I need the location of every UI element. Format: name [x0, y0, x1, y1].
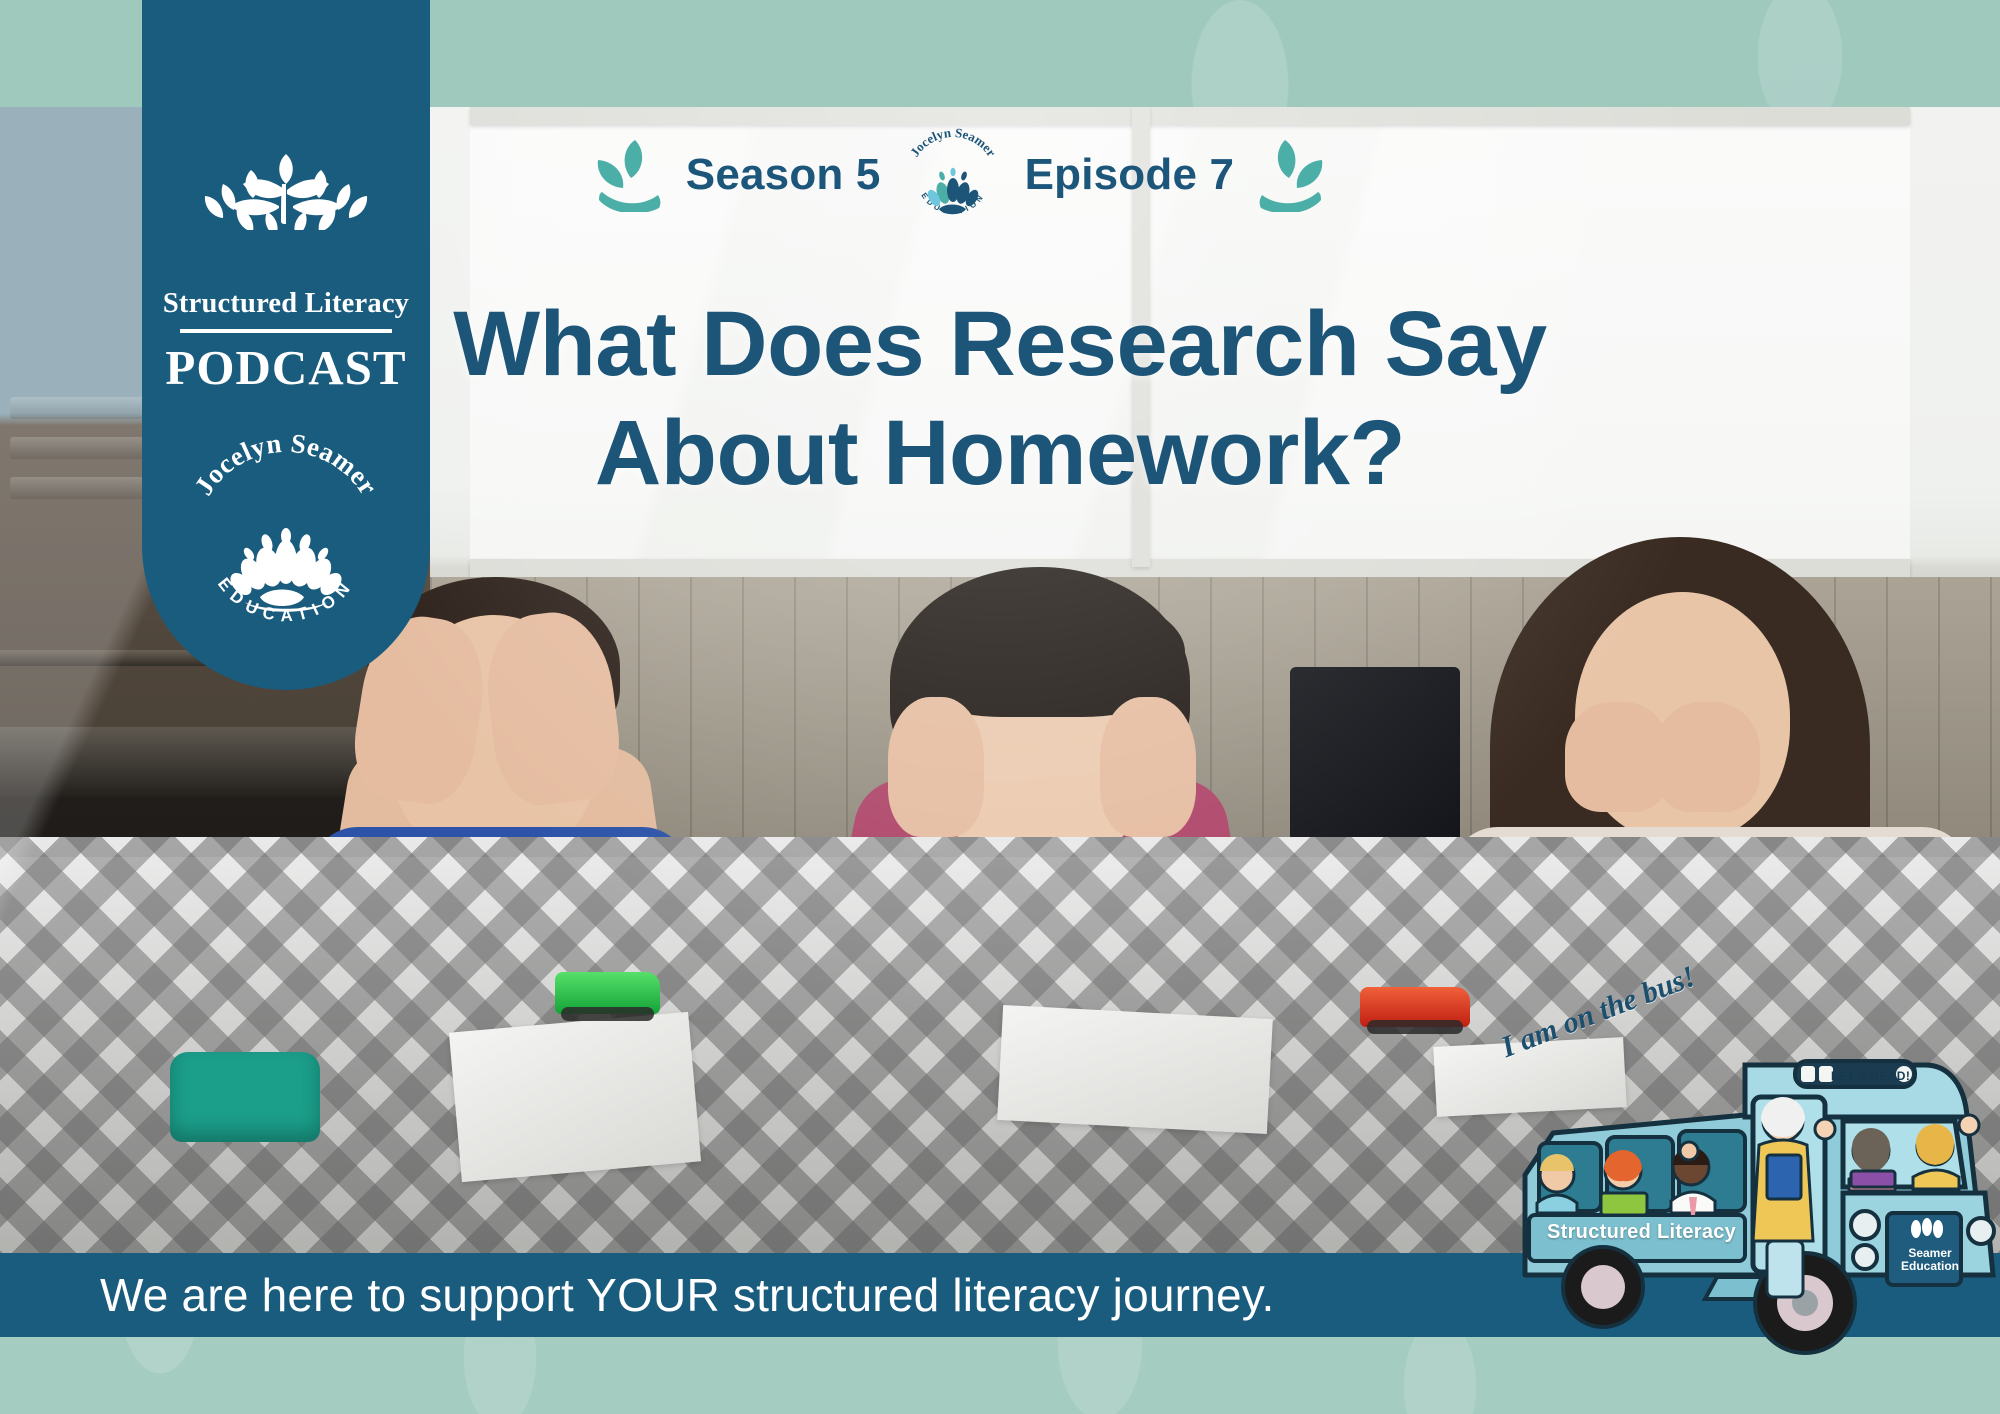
bus-brand-line-2: Education [1899, 1260, 1961, 1273]
passenger-5-hair [1916, 1124, 1954, 1165]
bus-illustration [1495, 1025, 2000, 1365]
passenger-1-body [1537, 1195, 1577, 1213]
svg-text:Jocelyn Seamer: Jocelyn Seamer [906, 125, 998, 160]
paper-sheet-left [449, 1012, 701, 1182]
banner-title: PODCAST [165, 339, 406, 396]
toy-car-green [555, 972, 660, 1014]
season-episode-header: Season 5 Jocelyn Seamer EDUCATION [560, 130, 1360, 220]
toy-car-red [1360, 987, 1470, 1027]
leaf-pair-icon [1252, 138, 1334, 212]
teacher-legs [1767, 1241, 1803, 1297]
leaf-pair-icon [586, 138, 668, 212]
mini-brand-logo: Jocelyn Seamer EDUCATION [899, 121, 1007, 229]
headlight-3 [1968, 1218, 1994, 1244]
episode-title-line-2: About Homework? [440, 399, 1560, 508]
episode-title: What Does Research Say About Homework? [440, 290, 1560, 507]
tagline-text: We are here to support YOUR structured l… [0, 1268, 1275, 1322]
bus-brand-text: Seamer Education [1899, 1247, 1961, 1273]
podcast-cover-canvas: Structured Literacy PODCAST Jocelyn Seam… [0, 0, 2000, 1414]
teacher-book [1767, 1155, 1801, 1199]
right-hand [1100, 697, 1196, 837]
leafy-sprig-ornament [181, 150, 391, 230]
bus-brand-emblem [1911, 1218, 1943, 1238]
passenger-5-body [1913, 1170, 1959, 1189]
headlight-1 [1851, 1211, 1879, 1239]
season-label: Season 5 [686, 150, 881, 200]
left-hand [888, 697, 984, 837]
structured-literacy-bus: I am on the bus! [1495, 1025, 2000, 1365]
banner-subtitle: Structured Literacy [163, 288, 409, 320]
podcast-side-banner: Structured Literacy PODCAST Jocelyn Seam… [142, 0, 430, 690]
mini-logo-top-text: Jocelyn Seamer [906, 125, 998, 160]
sign-light-1 [1801, 1066, 1815, 1082]
banner-divider [180, 329, 392, 333]
passenger-5-waving-hand [1959, 1115, 1979, 1135]
roundel-top-text: Jocelyn Seamer [188, 428, 383, 501]
window-frame-top [470, 107, 1910, 125]
roundel-svg: Jocelyn Seamer EDUCATION [175, 422, 397, 644]
episode-label: Episode 7 [1025, 150, 1235, 200]
waving-hand-1 [1680, 1142, 1698, 1160]
backpack-green [170, 1052, 320, 1142]
wheel-rear-hub [1581, 1265, 1625, 1309]
jocelyn-seamer-roundel: Jocelyn Seamer EDUCATION [175, 422, 397, 644]
right-hand [1655, 702, 1760, 812]
paper-sheet-middle [997, 1005, 1273, 1134]
bus-side-panel-text: Structured Literacy [1547, 1221, 1736, 1244]
svg-text:Jocelyn Seamer: Jocelyn Seamer [188, 428, 383, 501]
passenger-4-books [1851, 1171, 1895, 1187]
headlight-2 [1853, 1245, 1877, 1269]
destination-sign-text: LET'S READ! [1831, 1069, 1910, 1083]
teacher-waving-hand [1815, 1119, 1835, 1139]
episode-title-line-1: What Does Research Say [440, 290, 1560, 399]
passenger-2-book [1601, 1193, 1647, 1215]
